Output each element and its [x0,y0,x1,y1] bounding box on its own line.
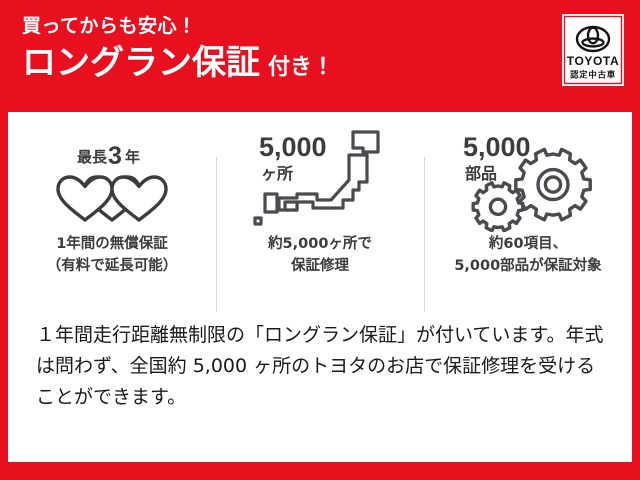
feature-caption: 約5,000ヶ所で 保証修理 [268,234,372,278]
header-headline-row: ロングラン保証 付き！ [22,46,334,82]
feature-caption: 1年間の無償保証 （有料で延長可能） [47,234,178,278]
body-paragraph: １年間走行距離無制限の「ロングラン保証」が付いています。年式は問わず、全国約 5… [8,320,632,412]
badge-unit-label: 年 [125,148,140,166]
toyota-wordmark: TOYOTA [567,54,620,68]
feature-columns: 最長 3 年 1年間の無償保証 （有料で延長可能） [8,112,632,314]
header-headline-sub: 付き！ [268,56,334,79]
gears-icon: 5,000 部品 [453,124,603,232]
content-card: 最長 3 年 1年間の無償保証 （有料で延長可能） [8,112,632,462]
japan-map-icon: 5,000 ヶ所 [245,124,395,232]
badge-small-label: 最長 [77,148,108,166]
header-headline-main: ロングラン保証 [22,46,260,82]
badge-big-number: 5,000 [463,132,531,162]
longrun-warranty-banner: 買ってからも安心！ ロングラン保証 付き！ [0,0,640,480]
badge-big-number: 3 [108,142,122,170]
badge-unit-label: ヶ所 [261,164,293,183]
feature-warranty-period: 最長 3 年 1年間の無償保証 （有料で延長可能） [8,124,216,314]
header-text-group: 買ってからも安心！ ロングラン保証 付き！ [22,16,334,82]
feature-covered-parts: 5,000 部品 約60項目、 5,000部品が保証対 [424,124,632,314]
three-hearts-icon: 最長 3 年 [37,124,187,232]
banner-header: 買ってからも安心！ ロングラン保証 付き！ [0,0,640,112]
header-kicker: 買ってからも安心！ [22,16,334,37]
toyota-certified-used-car-logo: TOYOTA 認定中古車 [562,14,624,100]
toyota-certified-label: 認定中古車 [570,70,616,80]
feature-caption: 約60項目、 5,000部品が保証対象 [454,234,601,278]
feature-service-locations: 5,000 ヶ所 [216,124,424,314]
badge-unit-label: 部品 [465,164,497,183]
badge-big-number: 5,000 [259,132,327,162]
